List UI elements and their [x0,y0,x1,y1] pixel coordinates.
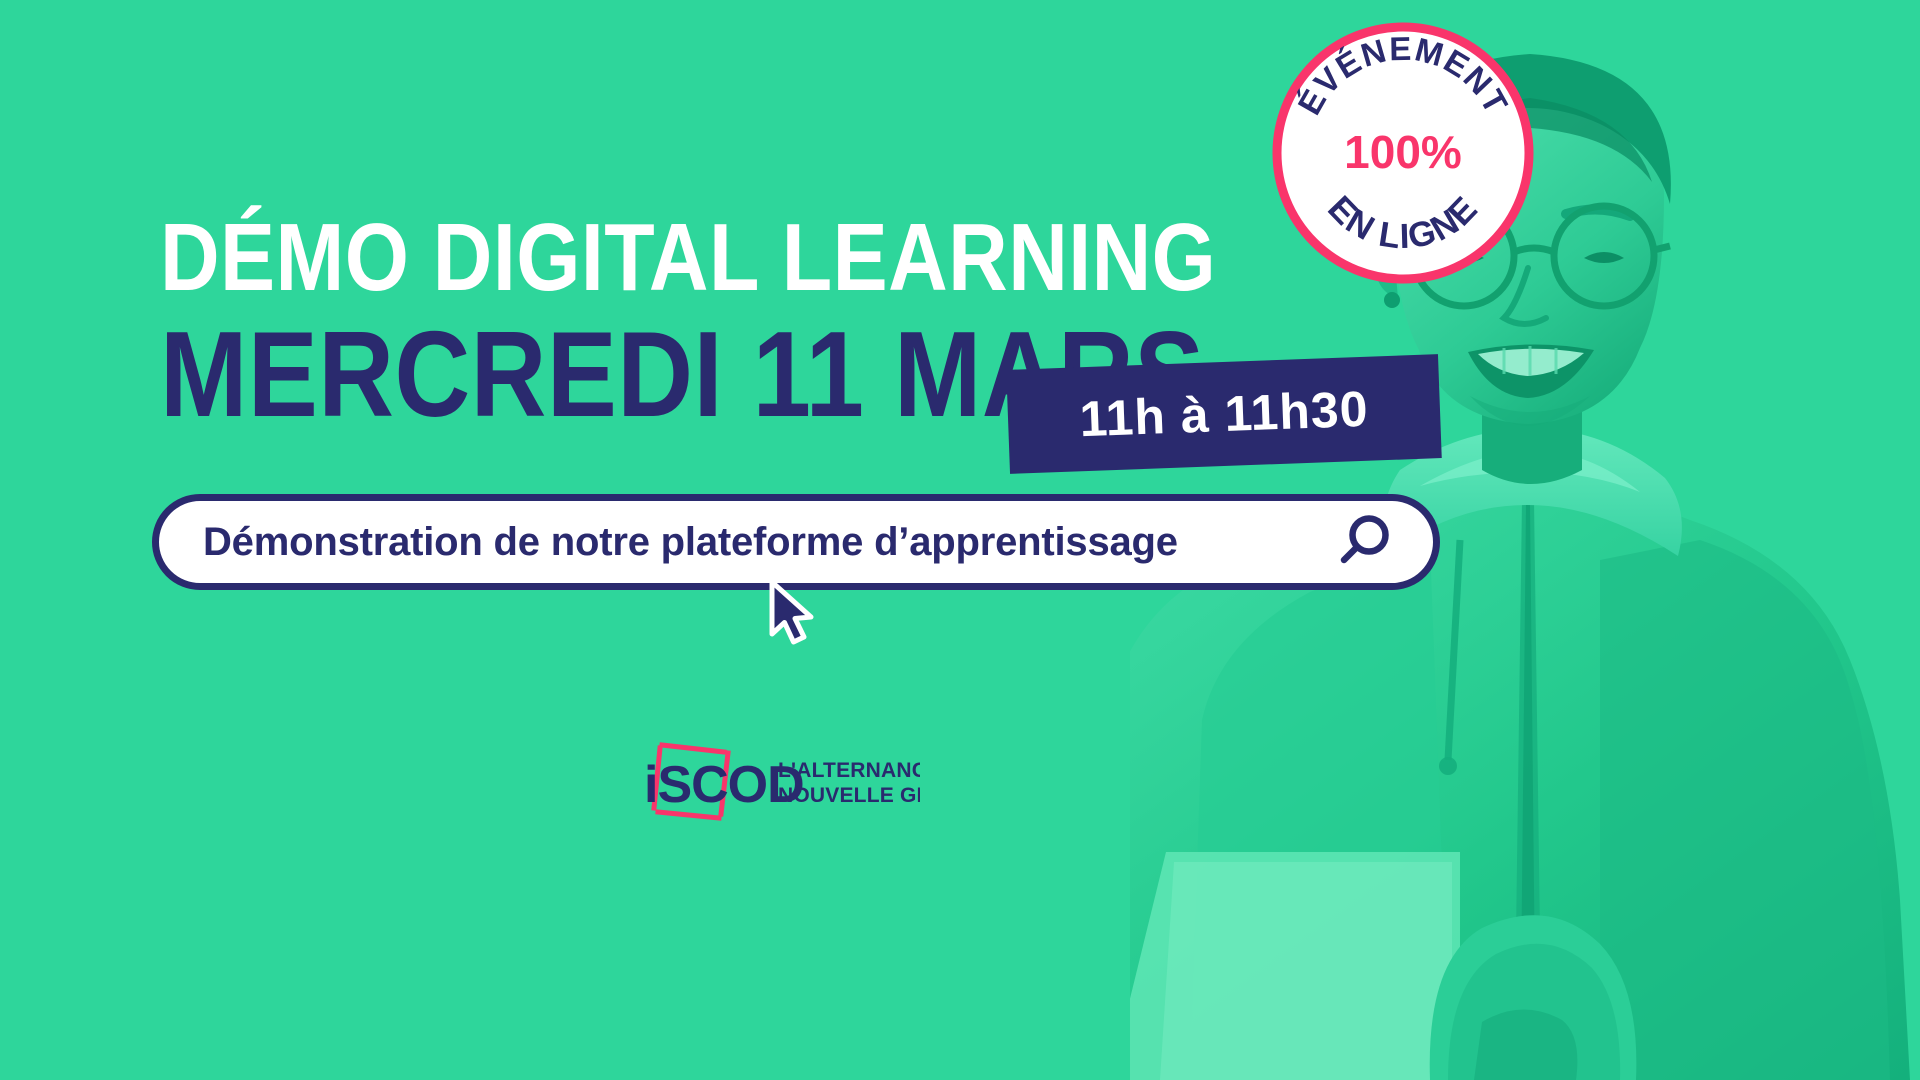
mouse-pointer-icon-svg [764,578,820,648]
search-icon[interactable] [1333,511,1395,573]
iscod-logo: iSCOD L'ALTERNANCE NOUVELLE GÉNÉRATION [620,738,920,830]
logo-tagline-line2: NOUVELLE GÉNÉRATION [778,784,920,807]
status-badge-svg: ÉVÉNEMENT 100% EN LIGNE [1272,22,1534,284]
title-line-2: MERCREDI 11 MARS [160,317,1123,433]
search-icon-svg [1333,511,1395,573]
search-input-value[interactable]: Démonstration de notre plateforme d’appr… [203,520,1178,565]
hand-shape [1474,1009,1577,1080]
iscod-logo-svg: iSCOD L'ALTERNANCE NOUVELLE GÉNÉRATION [620,738,920,830]
logo-tagline-line1: L'ALTERNANCE [778,759,920,782]
status-badge: ÉVÉNEMENT 100% EN LIGNE [1272,22,1534,284]
search-bar[interactable]: Démonstration de notre plateforme d’appr… [152,494,1440,590]
time-badge: 11h à 11h30 [1006,354,1442,474]
promo-banner: DÉMO DIGITAL LEARNING MERCREDI 11 MARS 1… [0,0,1920,1080]
time-badge-label: 11h à 11h30 [1079,380,1370,449]
badge-center-text: 100% [1344,126,1462,178]
title-line-1: DÉMO DIGITAL LEARNING [160,212,1123,303]
mouse-pointer-icon [764,578,820,648]
